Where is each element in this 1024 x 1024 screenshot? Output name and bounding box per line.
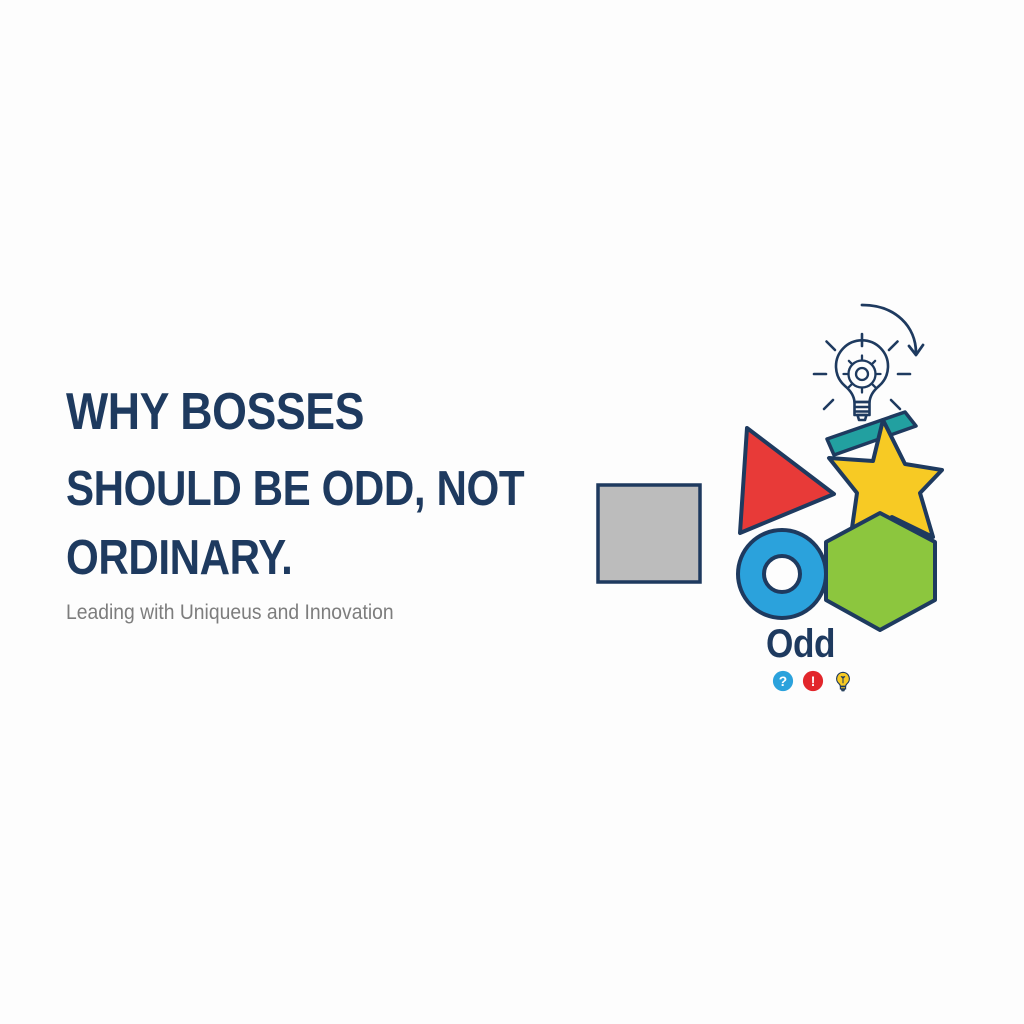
poster-canvas: WHY BOSSES SHOULD BE ODD, NOT ORDINARY. … (0, 0, 1024, 1024)
question-mark-icon: ? (772, 670, 794, 692)
svg-text:!: ! (811, 674, 816, 689)
parallelogram-icon (827, 412, 916, 455)
triangle-icon (740, 428, 834, 533)
subtitle: Leading with Uniqueus and Innovation (66, 601, 544, 625)
page-title-line-2: SHOULD BE ODD, NOT (66, 465, 513, 514)
page-title-line-3: ORDINARY. (66, 534, 513, 583)
badge-row: ? ! (772, 670, 854, 692)
lightbulb-gear-icon (814, 305, 923, 420)
lightbulb-icon (832, 670, 854, 692)
svg-text:?: ? (779, 674, 787, 689)
ring-icon (738, 530, 826, 618)
headline-block: WHY BOSSES SHOULD BE ODD, NOT ORDINARY. … (66, 386, 586, 625)
page-title-line-1: WHY BOSSES (66, 386, 513, 438)
exclamation-icon: ! (802, 670, 824, 692)
square-icon (598, 485, 700, 582)
odd-label: Odd (766, 622, 835, 667)
